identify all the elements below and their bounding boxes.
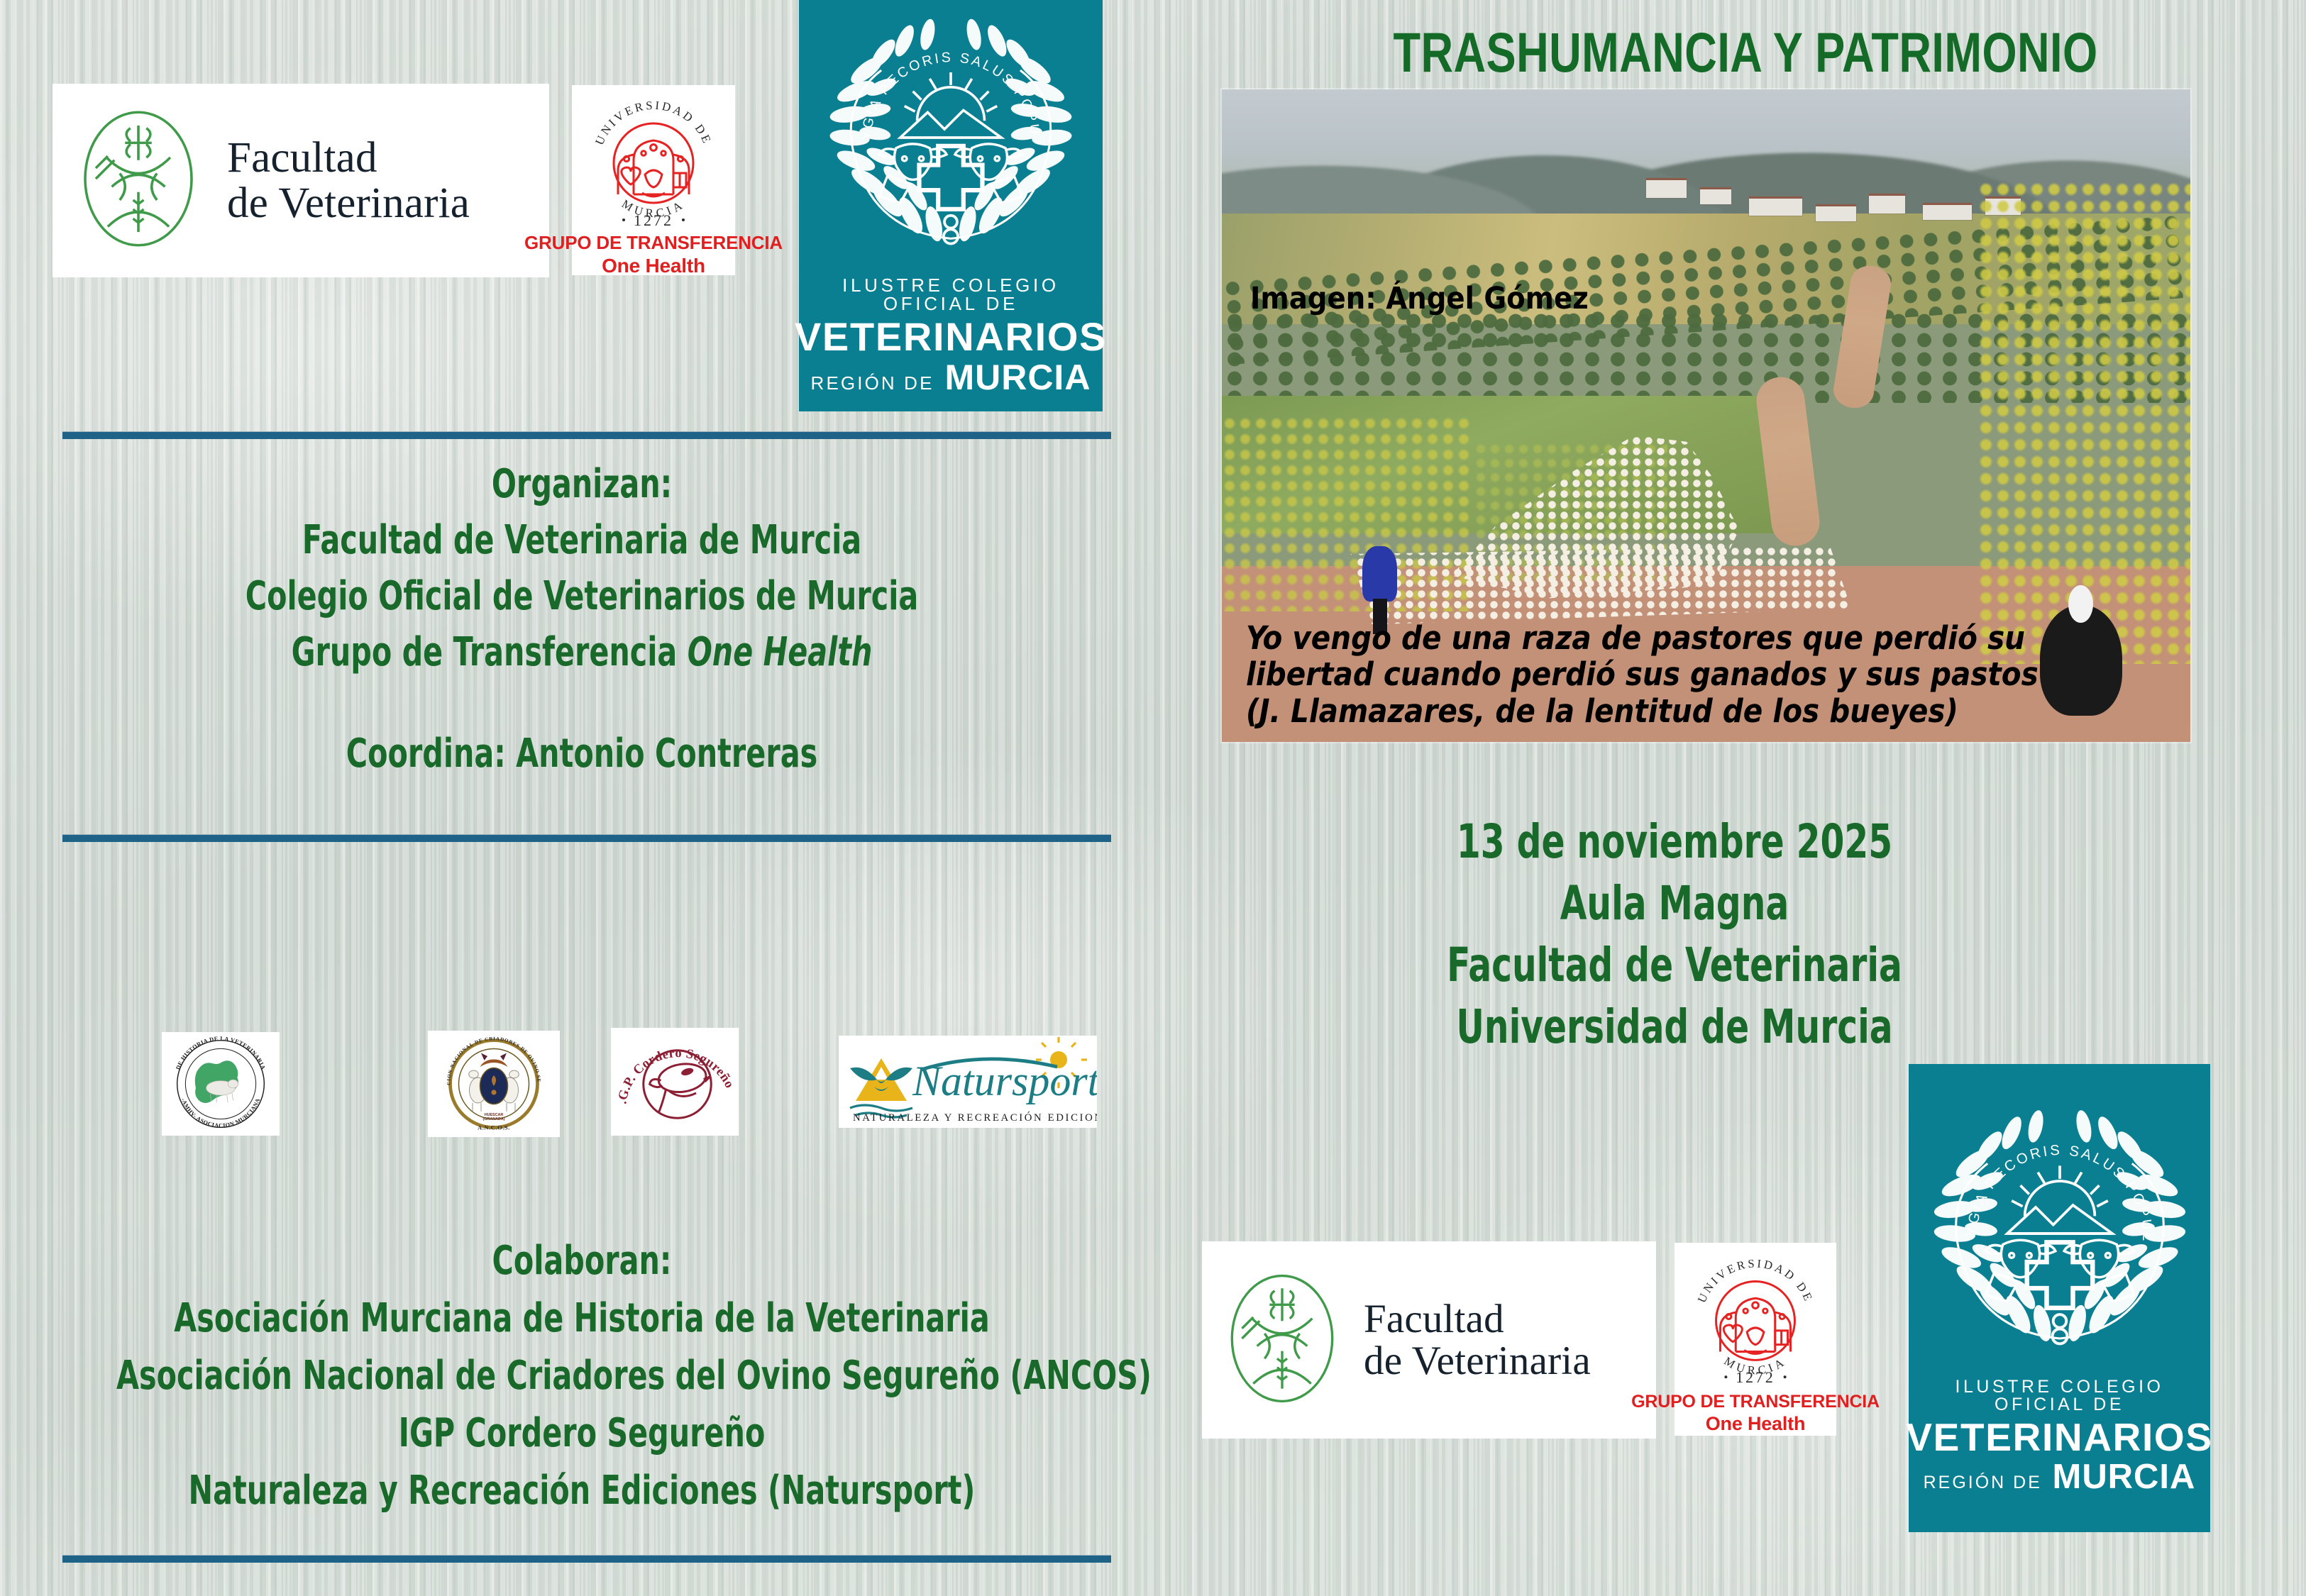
umu-seal-icon-bottom: UNIVERSIDAD DE MURCIA 1272: [1682, 1247, 1828, 1392]
colegio-line2: VETERINARIOS: [795, 317, 1107, 357]
umu-group-text: GRUPO DE TRANSFERENCIA: [524, 233, 783, 253]
colegio-line3-small: REGIÓN DE: [811, 372, 934, 394]
colaboran-block: Colaboran: Asociación Murciana de Histor…: [14, 1238, 1149, 1514]
colegio-line1-bottom: ILUSTRE COLEGIO OFICIAL DE: [1909, 1378, 2210, 1414]
logo-facultad-veterinaria-top: Facultad de Veterinaria: [53, 84, 549, 277]
organizan-line-3-italic: One Health: [688, 629, 873, 675]
facultad-wordmark-line2-bottom: de Veterinaria: [1364, 1339, 1591, 1383]
event-venue: Aula Magna: [1291, 876, 2058, 931]
logo-colegio-veterinarios-bottom: HYGIA PECORIS SALUS POPULI: [1909, 1064, 2210, 1532]
facultad-emblem-icon: [71, 104, 206, 257]
organizan-line-2: Colegio Oficial de Veterinarios de Murci…: [140, 573, 1024, 619]
logo-facultad-veterinaria-bottom: Facultad de Veterinaria: [1202, 1241, 1656, 1439]
facultad-wordmark-line1: Facultad: [227, 134, 377, 182]
umu-group-text-bottom: GRUPO DE TRANSFERENCIA: [1631, 1392, 1880, 1411]
logo-umu-one-health-top: UNIVERSIDAD DE MURCIA: [572, 85, 735, 275]
facultad-emblem-icon-bottom: [1219, 1268, 1345, 1412]
photo-quote-line2: libertad cuando perdió sus ganados y sus…: [1246, 656, 2039, 692]
umu-program-text-bottom: One Health: [1706, 1414, 1806, 1434]
logo-colegio-veterinarios-top: HYGIA PECORIS SALUS POPULI: [799, 0, 1103, 411]
logo-natursport: Natursport NATURALEZA Y RECREACIÓN EDICI…: [839, 1036, 1097, 1128]
organizan-coordina: Coordina: Antonio Contreras: [140, 731, 1024, 777]
logo-igp-cordero-segureno: I.G.P. Cordero Segureño: [611, 1028, 739, 1136]
photo-quote-line1: Yo vengo de una raza de pastores que per…: [1246, 620, 2039, 656]
umu-program-text: One Health: [602, 255, 705, 276]
colegio-line1: ILUSTRE COLEGIO OFICIAL DE: [799, 276, 1103, 313]
photo-credit: Imagen: Ángel Gómez: [1250, 281, 1589, 316]
colegio-line3-big-bottom: MURCIA: [2053, 1458, 2196, 1496]
colaboran-line-4: Naturaleza y Recreación Ediciones (Natur…: [116, 1468, 1047, 1514]
organizan-heading: Organizan:: [140, 461, 1024, 507]
umu-year-text: 1272: [634, 211, 673, 229]
divider-top: [62, 431, 1111, 439]
facultad-wordmark-line2: de Veterinaria: [227, 179, 470, 227]
organizan-line-1: Facultad de Veterinaria de Murcia: [140, 517, 1024, 563]
ancos-emblem-icon: ASOCIACION NACIONAL DE CRIADORES DE OVIN…: [428, 1031, 560, 1137]
event-university: Universidad de Murcia: [1291, 999, 2058, 1054]
umu-seal-icon: UNIVERSIDAD DE MURCIA: [580, 89, 727, 235]
amhv-emblem-icon: DE HISTORIA DE LA VETERINARIA -AMHV- ASO…: [162, 1032, 280, 1136]
logo-amhv: DE HISTORIA DE LA VETERINARIA -AMHV- ASO…: [162, 1032, 280, 1136]
organizan-line-3-plain: Grupo de Transferencia: [292, 629, 688, 675]
photo-shepherd: [1362, 546, 1397, 602]
svg-text:1272: 1272: [1736, 1369, 1775, 1386]
photo-quote-line3: (J. Llamazares, de la lentitud de los bu…: [1246, 693, 2039, 729]
colegio-crest-icon: HYGIA PECORIS SALUS POPULI: [824, 11, 1077, 267]
colaboran-line-3: IGP Cordero Segureño: [116, 1410, 1047, 1456]
page-title: TRASHUMANCIA Y PATRIMONIO: [1314, 20, 2177, 85]
natursport-emblem-icon: Natursport NATURALEZA Y RECREACIÓN EDICI…: [839, 1036, 1097, 1128]
transhumance-photo: Imagen: Ángel Gómez Yo vengo de una raza…: [1222, 89, 2190, 742]
photo-sheepdog: [2040, 605, 2122, 716]
colaboran-line-1: Asociación Murciana de Historia de la Ve…: [116, 1295, 1047, 1341]
colegio-line2-bottom: VETERINARIOS: [1906, 1418, 2212, 1457]
colegio-line3-small-bottom: REGIÓN DE: [1924, 1473, 2042, 1492]
organizan-block: Organizan: Facultad de Veterinaria de Mu…: [43, 461, 1121, 777]
facultad-wordmark-line1-bottom: Facultad: [1364, 1297, 1504, 1341]
svg-text:(GRANADA): (GRANADA): [482, 1117, 504, 1121]
event-details-block: 13 de noviembre 2025 Aula Magna Facultad…: [1206, 814, 2143, 1054]
logo-umu-one-health-bottom: UNIVERSIDAD DE MURCIA 1272 GRUPO DE: [1675, 1243, 1836, 1436]
natursport-tagline: NATURALEZA Y RECREACIÓN EDICIONES: [853, 1112, 1097, 1124]
organizan-line-3: Grupo de Transferencia One Health: [140, 629, 1024, 675]
logo-ancos: ASOCIACION NACIONAL DE CRIADORES DE OVIN…: [428, 1031, 560, 1137]
event-faculty: Facultad de Veterinaria: [1291, 938, 2058, 992]
svg-text:A.N.C.O.S.: A.N.C.O.S.: [478, 1125, 510, 1131]
colegio-line3-big: MURCIA: [944, 358, 1091, 397]
colaboran-heading: Colaboran:: [116, 1238, 1047, 1284]
divider-middle: [62, 834, 1111, 842]
photo-quote: Yo vengo de una raza de pastores que per…: [1246, 620, 2039, 729]
colaboran-line-2: Asociación Nacional de Criadores del Ovi…: [116, 1353, 1047, 1399]
divider-bottom: [62, 1555, 1111, 1563]
igp-lamb-icon: I.G.P. Cordero Segureño: [611, 1028, 739, 1136]
colegio-crest-icon-bottom: HYGIA PECORIS SALUS POPULI: [1929, 1102, 2191, 1368]
event-date: 13 de noviembre 2025: [1291, 814, 2058, 869]
